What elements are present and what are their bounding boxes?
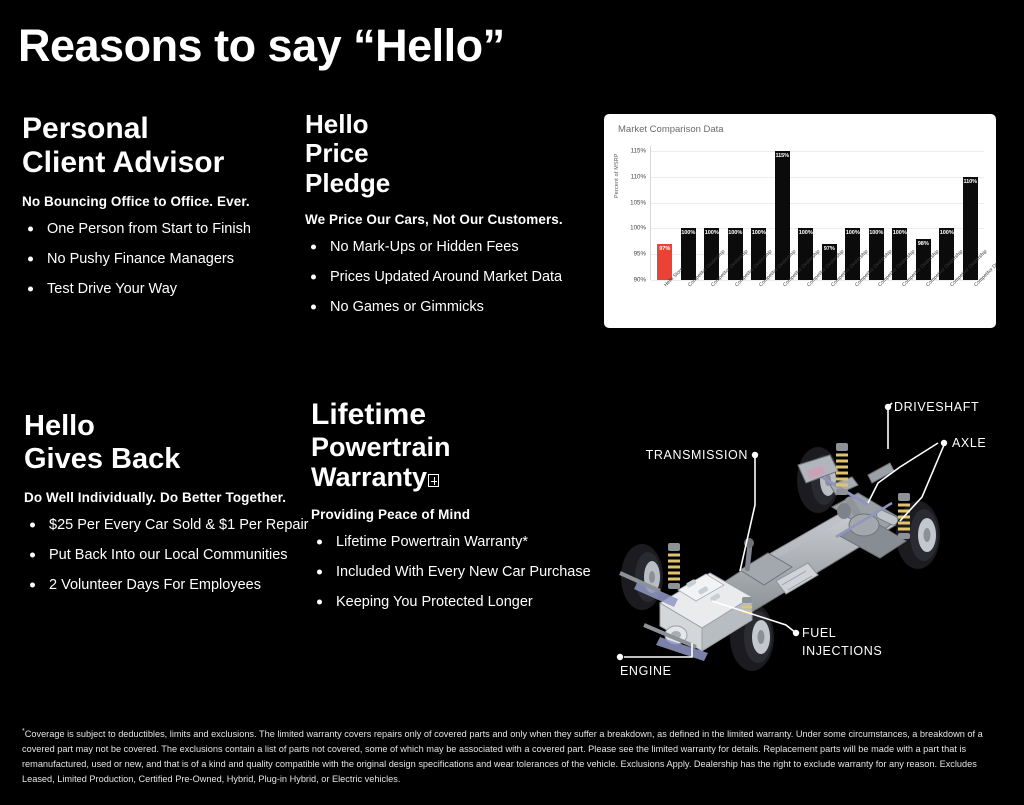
- chart-bar-value-label: 100%: [681, 230, 696, 236]
- feature-heading-line-3-text: Warranty: [311, 462, 427, 492]
- list-item: Put Back Into our Local Communities: [24, 547, 309, 563]
- feature-subheading: We Price Our Cars, Not Our Customers.: [305, 212, 563, 227]
- chart-y-tick-label: 110%: [631, 173, 646, 180]
- feature-heading: Hello Gives Back: [24, 410, 309, 476]
- list-item-label: $25 Per Every Car Sold & $1 Per Repair: [49, 517, 309, 533]
- feature-bullet-list: No Mark-Ups or Hidden Fees Prices Update…: [305, 239, 563, 315]
- chart-bar-value-label: 100%: [892, 230, 907, 236]
- list-item-label: No Pushy Finance Managers: [47, 251, 234, 267]
- chart-y-tick-label: 90%: [634, 277, 646, 284]
- chart-y-axis-label: Percent of MSRP: [614, 153, 620, 198]
- feature-block-hello-price-pledge: Hello Price Pledge We Price Our Cars, No…: [305, 110, 563, 329]
- chart-bar-value-label: 98%: [916, 241, 931, 247]
- bullet-dot-icon: [311, 275, 316, 280]
- chart-title: Market Comparison Data: [618, 124, 986, 135]
- bullet-dot-icon: [317, 599, 322, 604]
- list-item-label: Included With Every New Car Purchase: [336, 564, 591, 580]
- bullet-dot-icon: [311, 305, 316, 310]
- list-item-label: Lifetime Powertrain Warranty*: [336, 534, 528, 550]
- feature-heading-line-1: Hello: [24, 410, 309, 443]
- feature-heading-line-2: Gives Back: [24, 443, 309, 476]
- list-item-label: One Person from Start to Finish: [47, 221, 251, 237]
- list-item-label: Put Back Into our Local Communities: [49, 547, 288, 563]
- feature-bullet-list: One Person from Start to Finish No Pushy…: [22, 221, 251, 297]
- chart-y-tick-label: 115%: [631, 148, 646, 155]
- list-item-label: No Games or Gimmicks: [330, 299, 484, 315]
- chart-bar-value-label: 97%: [822, 246, 837, 252]
- diagram-label-driveshaft: DRIVESHAFT: [894, 400, 979, 414]
- feature-bullet-list: Lifetime Powertrain Warranty* Included W…: [311, 534, 591, 610]
- diagram-label-axle: AXLE: [952, 436, 986, 450]
- chart-bar-value-label: 115%: [775, 153, 790, 159]
- chart-bar-value-label: 100%: [751, 230, 766, 236]
- feature-block-personal-client-advisor: Personal Client Advisor No Bouncing Offi…: [22, 112, 251, 311]
- feature-heading-line-1: Personal: [22, 112, 251, 146]
- market-comparison-chart-card: Market Comparison Data Percent of MSRP 9…: [604, 114, 996, 328]
- chart-y-tick-label: 95%: [634, 251, 646, 258]
- chart-bar-value-label: 100%: [939, 230, 954, 236]
- chassis-illustration: DRIVESHAFT AXLE TRANSMISSION FUEL INJECT…: [600, 385, 1024, 685]
- bullet-dot-icon: [28, 256, 33, 261]
- chart-body: Percent of MSRP 90%95%100%105%110%115% 9…: [612, 142, 988, 322]
- page-title: Reasons to say “Hello”: [18, 22, 505, 69]
- chart-bar-value-label: 100%: [704, 230, 719, 236]
- list-item: No Mark-Ups or Hidden Fees: [305, 239, 563, 255]
- feature-block-hello-gives-back: Hello Gives Back Do Well Individually. D…: [24, 410, 309, 607]
- feature-heading-line-2: Price: [305, 139, 563, 168]
- feature-heading: Hello Price Pledge: [305, 110, 563, 198]
- slide-root: Reasons to say “Hello” Personal Client A…: [0, 0, 1024, 805]
- bullet-dot-icon: [317, 539, 322, 544]
- chart-y-tick-label: 100%: [630, 225, 646, 232]
- bullet-dot-icon: [30, 522, 35, 527]
- feature-bullet-list: $25 Per Every Car Sold & $1 Per Repair P…: [24, 517, 309, 593]
- list-item: One Person from Start to Finish: [22, 221, 251, 237]
- feature-subheading: No Bouncing Office to Office. Ever.: [22, 194, 251, 209]
- bullet-dot-icon: [30, 582, 35, 587]
- list-item: Keeping You Protected Longer: [311, 594, 591, 610]
- bullet-dot-icon: [317, 569, 322, 574]
- feature-heading-line-1: Hello: [305, 110, 563, 139]
- chart-bar-value-label: 100%: [728, 230, 743, 236]
- bullet-dot-icon: [28, 226, 33, 231]
- wheel-rear-left: [797, 447, 839, 513]
- feature-heading-line-2: Client Advisor: [22, 146, 251, 180]
- diagram-label-engine: ENGINE: [620, 664, 672, 678]
- car-chassis-diagram: DRIVESHAFT AXLE TRANSMISSION FUEL INJECT…: [600, 385, 1024, 685]
- list-item: Test Drive Your Way: [22, 281, 251, 297]
- diagram-label-fuel-injections-line1: FUEL: [802, 626, 836, 640]
- bullet-dot-icon: [311, 245, 316, 250]
- chart-bar-value-label: 100%: [869, 230, 884, 236]
- list-item: Included With Every New Car Purchase: [311, 564, 591, 580]
- list-item-label: Prices Updated Around Market Data: [330, 269, 562, 285]
- chart-y-tick-label: 105%: [630, 199, 646, 206]
- bullet-dot-icon: [30, 552, 35, 557]
- chart-x-axis-labels: Hello StoreCompetitor DealershipCompetit…: [652, 284, 986, 324]
- list-item: No Pushy Finance Managers: [22, 251, 251, 267]
- missing-glyph-icon: [428, 474, 439, 487]
- feature-subheading: Do Well Individually. Do Better Together…: [24, 490, 309, 505]
- list-item: No Games or Gimmicks: [305, 299, 563, 315]
- chart-bar-value-label: 100%: [798, 230, 813, 236]
- footer-disclaimer: *Coverage is subject to deductibles, lim…: [22, 726, 1002, 787]
- list-item: $25 Per Every Car Sold & $1 Per Repair: [24, 517, 309, 533]
- list-item-label: 2 Volunteer Days For Employees: [49, 577, 261, 593]
- feature-heading-line-3: Pledge: [305, 169, 563, 198]
- feature-heading: Lifetime Powertrain Warranty: [311, 398, 591, 493]
- chart-bar-slot: 97%: [653, 146, 677, 280]
- bullet-dot-icon: [28, 286, 33, 291]
- chart-bar-slot: 100%: [677, 146, 701, 280]
- suspension-spring-front-left: [668, 543, 680, 589]
- list-item-label: Test Drive Your Way: [47, 281, 177, 297]
- feature-heading-line-1: Lifetime: [311, 398, 591, 432]
- chart-bar-value-label: 97%: [657, 246, 672, 252]
- list-item-label: Keeping You Protected Longer: [336, 594, 533, 610]
- list-item: Prices Updated Around Market Data: [305, 269, 563, 285]
- list-item: Lifetime Powertrain Warranty*: [311, 534, 591, 550]
- chart-bar-value-label: 100%: [845, 230, 860, 236]
- feature-heading-line-2: Powertrain: [311, 432, 591, 463]
- feature-block-lifetime-powertrain-warranty: Lifetime Powertrain Warranty Providing P…: [311, 398, 591, 624]
- list-item-label: No Mark-Ups or Hidden Fees: [330, 239, 519, 255]
- list-item: 2 Volunteer Days For Employees: [24, 577, 309, 593]
- feature-heading-line-3: Warranty: [311, 462, 591, 493]
- diagram-label-transmission: TRANSMISSION: [646, 448, 748, 462]
- feature-subheading: Providing Peace of Mind: [311, 507, 591, 522]
- footer-disclaimer-text: Coverage is subject to deductibles, limi…: [22, 729, 983, 784]
- chart-plot-area: 90%95%100%105%110%115% 97%100%100%100%10…: [650, 146, 984, 280]
- chart-bar: 97%: [657, 244, 672, 280]
- chart-bar-value-label: 110%: [963, 179, 978, 185]
- feature-heading: Personal Client Advisor: [22, 112, 251, 180]
- diagram-label-fuel-injections-line2: INJECTIONS: [802, 644, 882, 658]
